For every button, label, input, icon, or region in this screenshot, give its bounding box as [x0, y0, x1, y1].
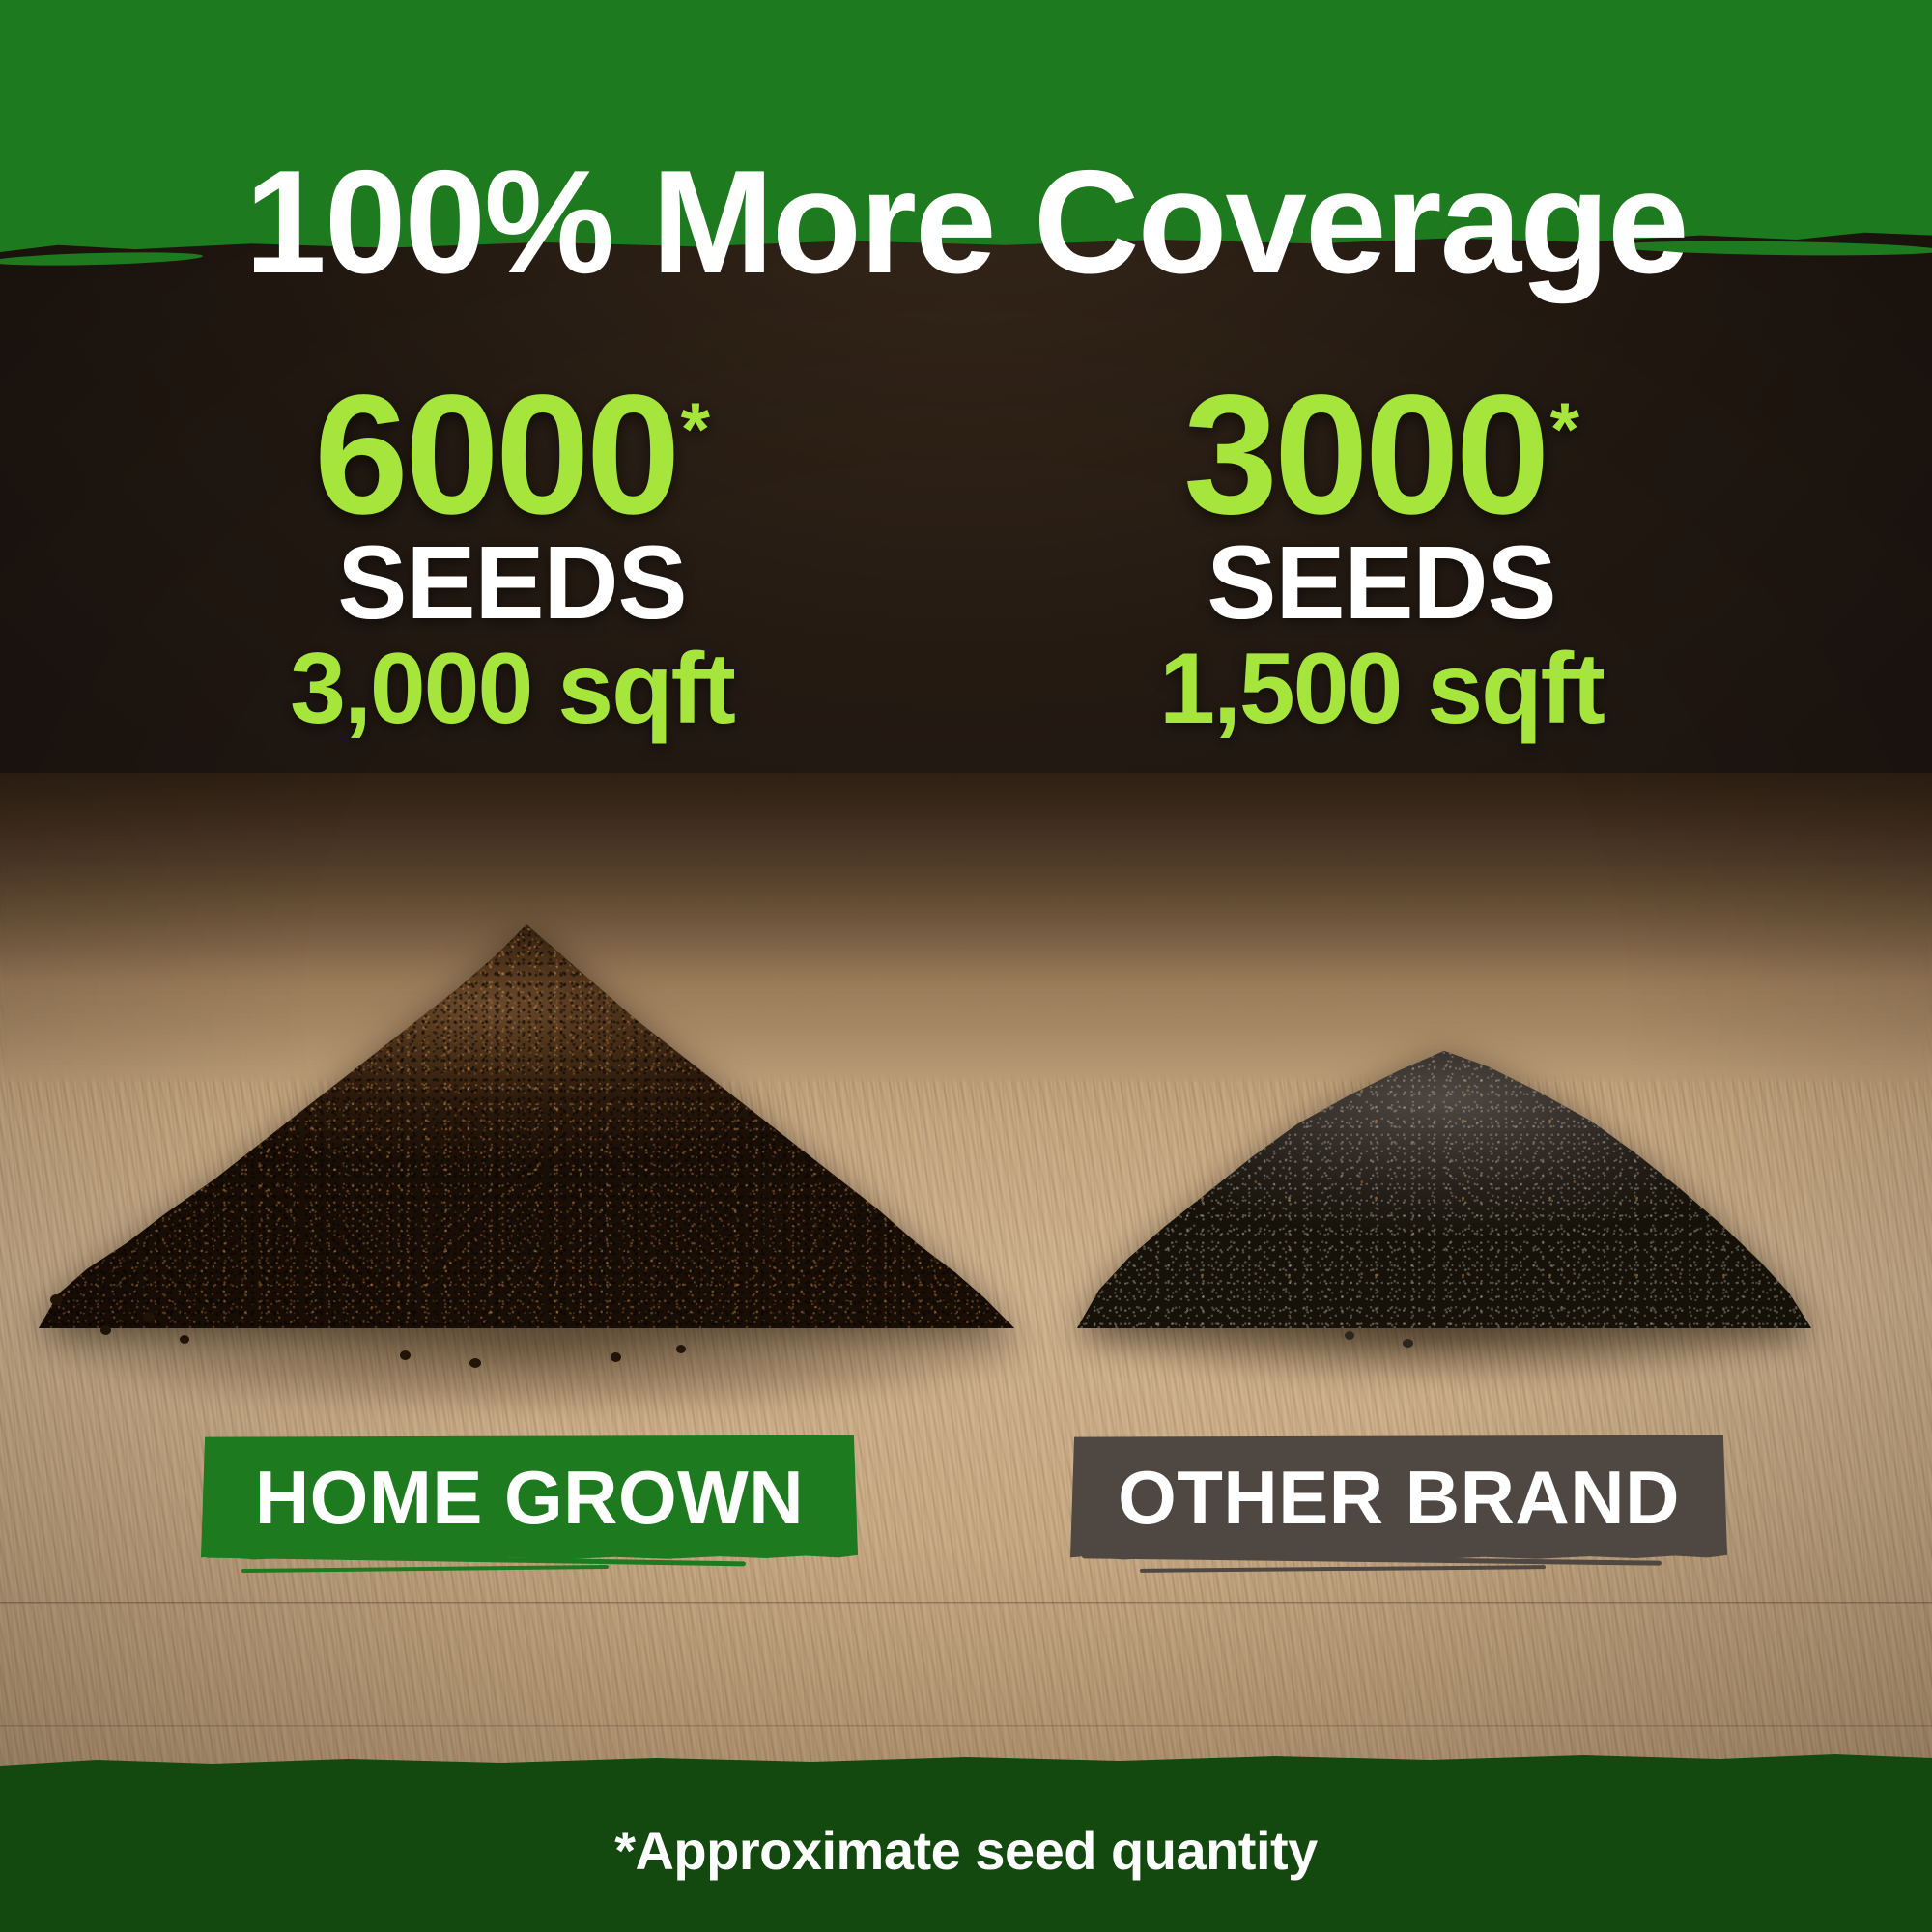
- page-title: 100% More Coverage: [0, 149, 1932, 296]
- other-brand-badge: OTHER BRAND: [1070, 1435, 1727, 1560]
- home-grown-badge-label: HOME GROWN: [255, 1454, 804, 1542]
- home-grown-coverage-area: 3,000 sqft: [116, 637, 908, 742]
- other-brand-stats: 3000* SEEDS 1,500 sqft: [985, 375, 1777, 742]
- home-grown-badge: HOME GROWN: [201, 1435, 858, 1560]
- other-brand-coverage-area: 1,500 sqft: [985, 637, 1777, 742]
- asterisk-marker: *: [681, 386, 710, 471]
- home-grown-seed-count: 6000*: [116, 375, 908, 536]
- infographic-canvas: 100% More Coverage 6000* SEEDS 3,000 sqf…: [0, 0, 1932, 1932]
- footnote: *Approximate seed quantity: [0, 1819, 1932, 1882]
- home-grown-stats: 6000* SEEDS 3,000 sqft: [116, 375, 908, 742]
- asterisk-marker: *: [1550, 386, 1579, 471]
- other-brand-badge-label: OTHER BRAND: [1118, 1454, 1680, 1542]
- other-brand-seed-count: 3000*: [985, 375, 1777, 536]
